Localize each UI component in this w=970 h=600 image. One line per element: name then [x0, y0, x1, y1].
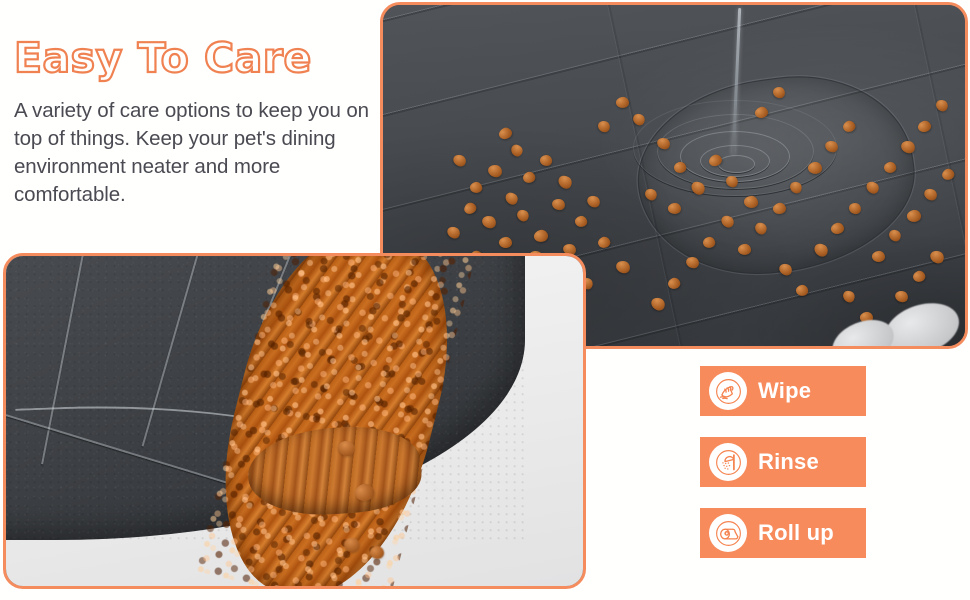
care-options-list: Wipe Rinse	[700, 366, 866, 558]
ripple-ring	[718, 155, 756, 173]
badge-rinse[interactable]: Rinse	[700, 437, 866, 487]
text-block: Easy To Care A variety of care options t…	[14, 38, 382, 209]
badge-label: Wipe	[758, 378, 811, 404]
badge-label: Rinse	[758, 449, 819, 475]
mat-pouring-kibble-photo	[3, 253, 586, 589]
badge-wipe[interactable]: Wipe	[700, 366, 866, 416]
shower-head-icon	[709, 443, 747, 481]
infographic-canvas: Easy To Care A variety of care options t…	[0, 0, 970, 600]
badge-label: Roll up	[758, 520, 834, 546]
kibble-piece	[540, 154, 553, 166]
photo-content	[6, 256, 583, 586]
rolled-mat-icon	[709, 514, 747, 552]
hand-wiping-cloth-icon	[709, 372, 747, 410]
page-title: Easy To Care	[14, 38, 382, 79]
badge-roll-up[interactable]: Roll up	[700, 508, 866, 558]
description-paragraph: A variety of care options to keep you on…	[14, 97, 382, 209]
